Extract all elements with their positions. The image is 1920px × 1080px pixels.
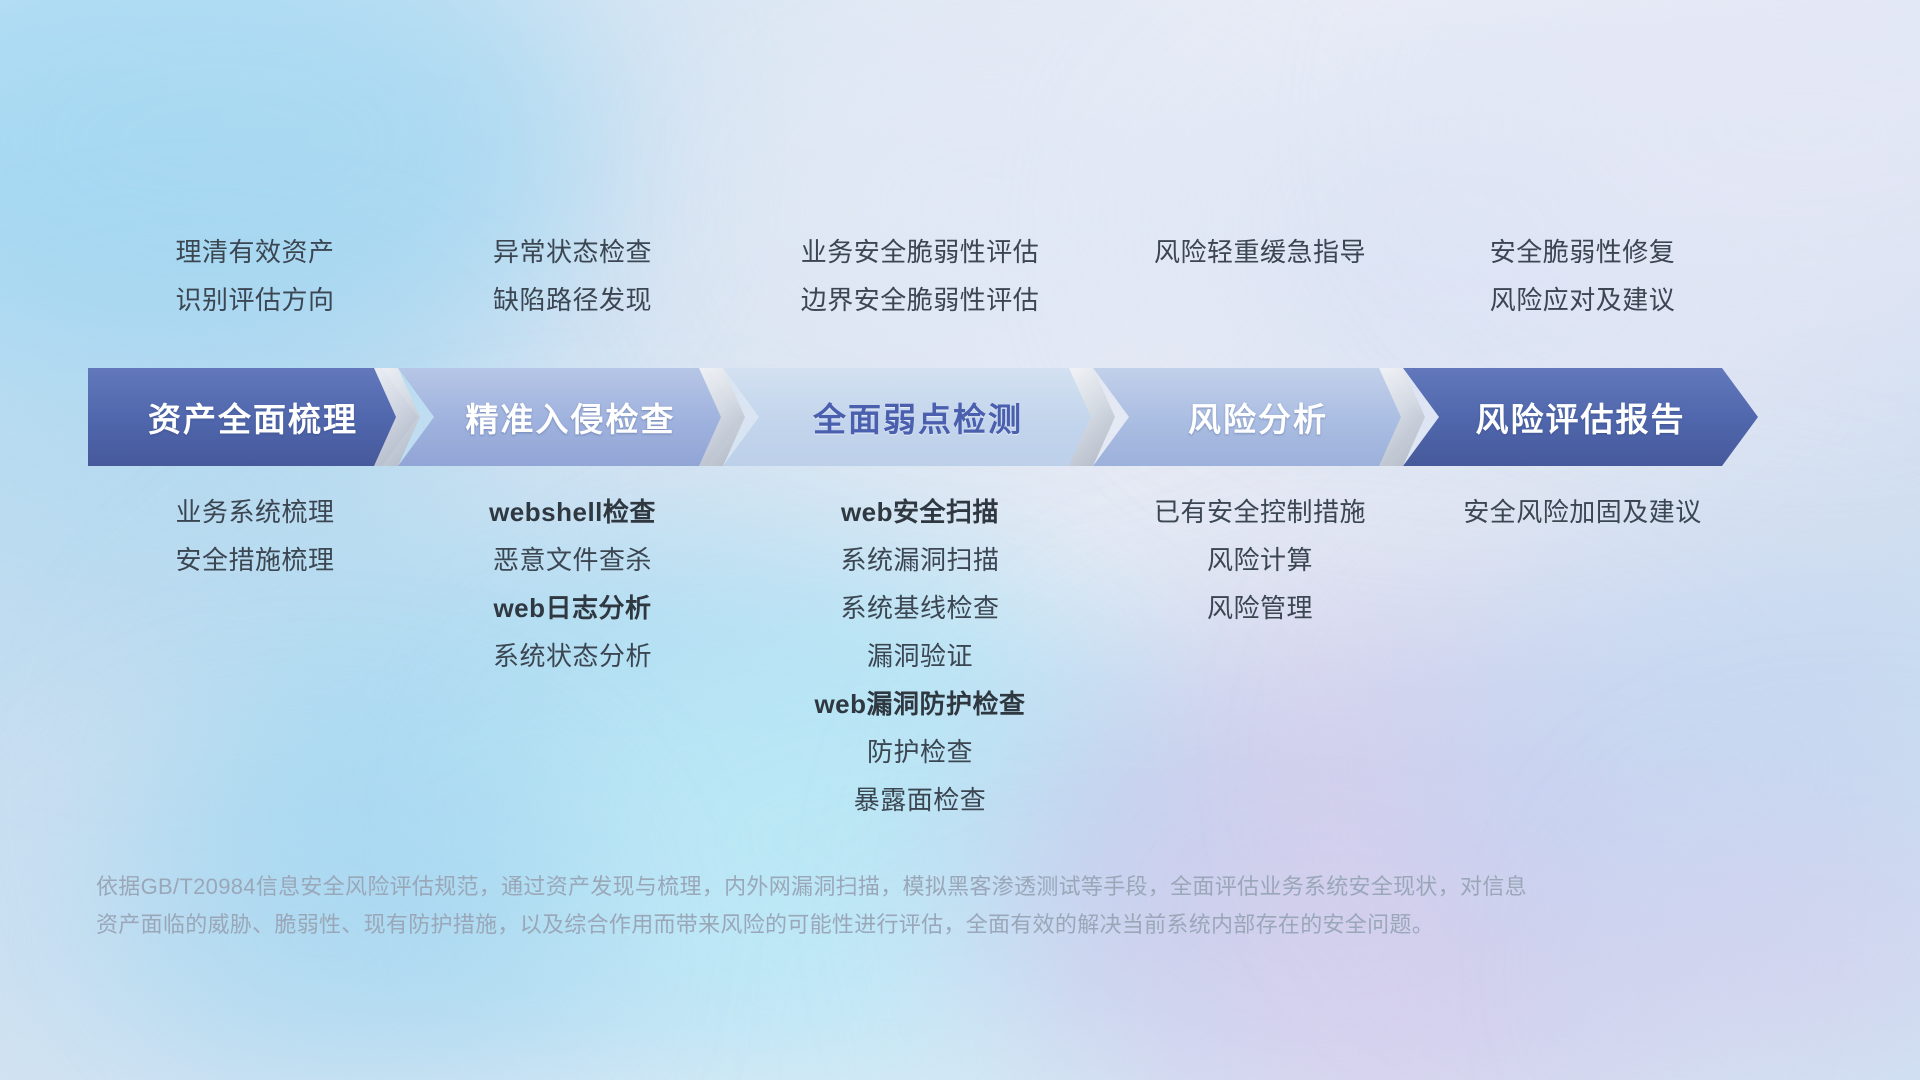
top-label: 识别评估方向 — [175, 276, 334, 324]
detail-item: 系统状态分析 — [493, 632, 652, 680]
detail-group-weakness-detection: web安全扫描系统漏洞扫描系统基线检查漏洞验证web漏洞防护检查防护检查暴露面检… — [725, 488, 1115, 824]
stage-chevron-label: 风险分析 — [1188, 393, 1328, 441]
stage-chevron-risk-report[interactable]: 风险评估报告 — [1403, 368, 1758, 466]
detail-item: 风险管理 — [1207, 584, 1313, 632]
detail-group-risk-analysis: 已有安全控制措施风险计算风险管理 — [1095, 488, 1425, 632]
stage-chevron-band: 资产全面梳理精准入侵检查全面弱点检测风险分析风险评估报告 — [88, 368, 1838, 466]
top-label: 理清有效资产 — [175, 228, 334, 276]
detail-item: 风险计算 — [1207, 536, 1313, 584]
footer-line-2: 资产面临的威胁、脆弱性、现有防护措施，以及综合作用而带来风险的可能性进行评估，全… — [96, 906, 1656, 944]
footer-description: 依据GB/T20984信息安全风险评估规范，通过资产发现与梳理，内外网漏洞扫描，… — [96, 868, 1656, 944]
detail-item: 已有安全控制措施 — [1154, 488, 1366, 536]
footer-line-1: 依据GB/T20984信息安全风险评估规范，通过资产发现与梳理，内外网漏洞扫描，… — [96, 868, 1656, 906]
detail-group-intrusion-check: webshell检查恶意文件查杀web日志分析系统状态分析 — [400, 488, 745, 680]
detail-group-risk-report: 安全风险加固及建议 — [1405, 488, 1760, 536]
stage-chevron-asset-inventory[interactable]: 资产全面梳理 — [88, 368, 418, 466]
top-label: 边界安全脆弱性评估 — [801, 276, 1040, 324]
detail-item: 系统基线检查 — [840, 584, 999, 632]
detail-item: 漏洞验证 — [867, 632, 973, 680]
top-label-group-intrusion-check: 异常状态检查缺陷路径发现 — [400, 228, 745, 324]
detail-item: 防护检查 — [867, 728, 973, 776]
stage-chevron-risk-analysis[interactable]: 风险分析 — [1093, 368, 1423, 466]
detail-item: web漏洞防护检查 — [814, 680, 1025, 728]
detail-item: 安全风险加固及建议 — [1463, 488, 1702, 536]
detail-item: 系统漏洞扫描 — [840, 536, 999, 584]
top-label: 业务安全脆弱性评估 — [801, 228, 1040, 276]
stage-chevron-label: 资产全面梳理 — [148, 393, 358, 441]
top-label-row: 理清有效资产识别评估方向异常状态检查缺陷路径发现业务安全脆弱性评估边界安全脆弱性… — [90, 228, 1850, 324]
detail-group-asset-inventory: 业务系统梳理安全措施梳理 — [90, 488, 420, 584]
detail-item: 安全措施梳理 — [175, 536, 334, 584]
top-label: 安全脆弱性修复 — [1490, 228, 1676, 276]
detail-item: web日志分析 — [493, 584, 651, 632]
top-label-group-risk-analysis: 风险轻重缓急指导 — [1095, 228, 1425, 276]
stage-chevron-label: 全面弱点检测 — [813, 393, 1023, 441]
top-label: 缺陷路径发现 — [493, 276, 652, 324]
detail-item: 业务系统梳理 — [175, 488, 334, 536]
detail-item: 恶意文件查杀 — [493, 536, 652, 584]
top-label: 风险应对及建议 — [1490, 276, 1676, 324]
stage-chevron-label: 精准入侵检查 — [466, 393, 676, 441]
stage-chevron-label: 风险评估报告 — [1476, 393, 1686, 441]
process-diagram: 理清有效资产识别评估方向异常状态检查缺陷路径发现业务安全脆弱性评估边界安全脆弱性… — [0, 0, 1920, 1080]
detail-item: webshell检查 — [489, 488, 656, 536]
top-label: 异常状态检查 — [493, 228, 652, 276]
stage-chevron-intrusion-check[interactable]: 精准入侵检查 — [398, 368, 743, 466]
detail-item: web安全扫描 — [841, 488, 999, 536]
top-label-group-risk-report: 安全脆弱性修复风险应对及建议 — [1405, 228, 1760, 324]
top-label-group-weakness-detection: 业务安全脆弱性评估边界安全脆弱性评估 — [725, 228, 1115, 324]
stage-chevron-weakness-detection[interactable]: 全面弱点检测 — [723, 368, 1113, 466]
top-label-group-asset-inventory: 理清有效资产识别评估方向 — [90, 228, 420, 324]
top-label: 风险轻重缓急指导 — [1154, 228, 1366, 276]
detail-item: 暴露面检查 — [854, 776, 987, 824]
